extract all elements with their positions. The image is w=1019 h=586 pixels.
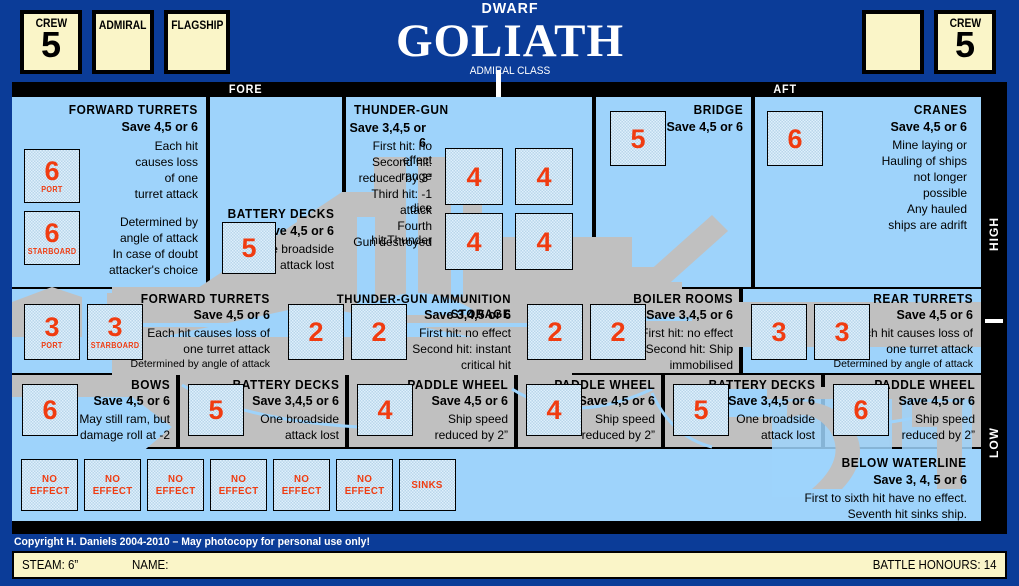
badge-flagship-caption: FLAGSHIP: [171, 19, 223, 32]
rear-turrets-line-1: one turret attack: [886, 342, 973, 356]
section-forward-turrets-high: FORWARD TURRETS Save 4,5 or 6 Each hit c…: [12, 97, 208, 287]
hitbox-sublabel: PORT: [41, 341, 62, 350]
hitbox-waterline-5[interactable]: NOEFFECT: [273, 459, 330, 511]
bows-line-0: May still ram, but: [79, 412, 170, 426]
hitbox-bridge[interactable]: 5: [610, 111, 666, 166]
hitbox-value: 4: [466, 164, 481, 190]
row-below-waterline: BELOW WATERLINE Save 3, 4, 5 or 6 First …: [12, 449, 1007, 521]
ship-title-block: DWARF GOLIATH ADMIRAL CLASS: [300, 0, 720, 77]
hitbox-battery-decks-low-1[interactable]: 5: [188, 384, 244, 436]
hitbox-paddle-wheel-2[interactable]: 4: [526, 384, 582, 436]
forward-turrets-mid-save: Save 4,5 or 6: [194, 308, 270, 323]
cranes-title: CRANES: [913, 103, 967, 118]
hitbox-forward-turret-port-mid[interactable]: 3 PORT: [24, 304, 80, 360]
section-bows: BOWS Save 4,5 or 6 May still ram, but da…: [12, 375, 178, 447]
forward-turrets-high-line-1: causes loss: [135, 155, 198, 169]
section-cranes: CRANES Save 4,5 or 6 Mine laying or Haul…: [755, 97, 981, 287]
badge-admiral-caption: ADMIRAL: [99, 19, 147, 32]
rear-turrets-save: Save 4,5 or 6: [897, 308, 973, 323]
forward-turrets-high-line-0: Each hit: [155, 139, 198, 153]
battery-decks-low-1-save: Save 3,4,5 or 6: [252, 394, 339, 409]
section-paddle-wheel-3: PADDLE WHEEL Save 4,5 or 6 Ship speed re…: [825, 375, 981, 447]
section-battery-decks-low-2: BATTERY DECKS Save 3,4,5 or 6 One broads…: [665, 375, 823, 447]
forward-turrets-high-line-2: of one: [165, 171, 198, 185]
hitbox-ammunition-storage-1[interactable]: 2: [288, 304, 344, 360]
paddle-wheel-2-line-1: reduced by 2”: [582, 428, 655, 442]
bridge-save: Save 4,5 or 6: [667, 120, 743, 135]
ship-name: GOLIATH: [300, 17, 720, 65]
bows-line-1: damage roll at -2: [80, 428, 170, 442]
ship-data-sheet: CREW 5 ADMIRAL FLAGSHIP DWARF GOLIATH AD…: [0, 0, 1019, 586]
fore-label: FORE: [229, 82, 263, 97]
below-waterline-title: BELOW WATERLINE: [842, 456, 967, 471]
battery-decks-low-1-line-1: attack lost: [285, 428, 339, 442]
paddle-wheel-3-save: Save 4,5 or 6: [899, 394, 975, 409]
boiler-rooms-save: Save 3,4,5 or 6: [646, 308, 733, 323]
hitbox-forward-turret-port-high[interactable]: 6 PORT: [24, 149, 80, 203]
forward-turrets-high-note-2: In case of doubt: [113, 247, 198, 261]
altitude-high-label: HIGH: [987, 217, 1001, 251]
ammunition-storage-line-1: Second hit: instant: [412, 342, 511, 356]
hitbox-thunder-gun-2[interactable]: 4: [515, 148, 573, 205]
thunder-gun-line-4: attack: [400, 203, 432, 217]
boiler-rooms-line-0: First hit: no effect: [641, 326, 733, 340]
hitbox-value: 4: [466, 229, 481, 255]
forward-turrets-high-line-3: turret attack: [135, 187, 198, 201]
paddle-wheel-3-title: PADDLE WHEEL: [874, 378, 975, 393]
hitbox-paddle-wheel-3[interactable]: 6: [833, 384, 889, 436]
battery-decks-high-title: BATTERY DECKS: [227, 207, 334, 222]
hitbox-value: 5: [693, 397, 708, 423]
section-rear-turrets: REAR TURRETS Save 4,5 or 6 Each hit caus…: [743, 289, 981, 373]
hitbox-rear-turret-1[interactable]: 3: [751, 304, 807, 360]
hitbox-boiler-room-1[interactable]: 2: [527, 304, 583, 360]
aft-label: AFT: [773, 82, 797, 97]
hitbox-waterline-2[interactable]: NOEFFECT: [84, 459, 141, 511]
row-high: FORWARD TURRETS Save 4,5 or 6 Each hit c…: [12, 97, 1007, 287]
hitbox-label: NOEFFECT: [282, 473, 322, 497]
altitude-divider-tick: [985, 319, 1003, 323]
bows-save: Save 4,5 or 6: [94, 394, 170, 409]
forward-turrets-mid-title: FORWARD TURRETS: [141, 292, 270, 307]
paddle-wheel-1-save: Save 4,5 or 6: [432, 394, 508, 409]
battery-decks-low-1-title: BATTERY DECKS: [232, 378, 339, 393]
forward-turrets-high-title: FORWARD TURRETS: [69, 103, 198, 118]
battery-decks-high-line-1: attack lost: [280, 258, 334, 272]
altitude-strip: HIGH LOW: [981, 97, 1007, 521]
badge-crew-left[interactable]: CREW 5: [20, 10, 82, 74]
boiler-rooms-line-2: immobilised: [670, 358, 733, 372]
section-battery-decks-low-1: BATTERY DECKS Save 3,4,5 or 6 One broads…: [180, 375, 347, 447]
footer-name-field[interactable]: NAME:: [132, 558, 168, 573]
hitbox-value: 4: [536, 164, 551, 190]
battery-decks-low-2-line-0: One broadside: [736, 412, 815, 426]
badge-crew-left-caption: CREW: [35, 17, 67, 30]
fore-aft-bar: FORE AFT: [12, 82, 1007, 97]
battery-decks-low-1-line-0: One broadside: [260, 412, 339, 426]
below-waterline-line-0: First to sixth hit have no effect.: [804, 491, 967, 505]
hitbox-ammunition-storage-2[interactable]: 2: [351, 304, 407, 360]
altitude-low-label: LOW: [987, 427, 1001, 458]
hitbox-value: 3: [771, 319, 786, 345]
hitbox-waterline-6[interactable]: NOEFFECT: [336, 459, 393, 511]
hitbox-value: 2: [371, 319, 386, 345]
hitbox-sublabel: STARBOARD: [28, 247, 77, 256]
forward-turrets-mid-line-1: one turret attack: [183, 342, 270, 356]
thunder-gun-line-2: reduced by 3”: [359, 171, 432, 185]
hitbox-value: 3: [834, 319, 849, 345]
ammunition-storage-line-0: First hit: no effect: [419, 326, 511, 340]
badge-crew-right[interactable]: CREW 5: [934, 10, 996, 74]
thunder-gun-line-6: Gun destroyed: [353, 235, 432, 249]
forward-turrets-mid-line-0: Each hit causes loss of: [147, 326, 270, 340]
paddle-wheel-2-line-0: Ship speed: [595, 412, 655, 426]
hitbox-boiler-room-2[interactable]: 2: [590, 304, 646, 360]
sheet-header: CREW 5 ADMIRAL FLAGSHIP DWARF GOLIATH AD…: [0, 0, 1019, 82]
nation-label: DWARF: [311, 0, 710, 17]
hitbox-rear-turret-2[interactable]: 3: [814, 304, 870, 360]
damage-board: FORE AFT FORWARD TURRETS Save 4,5 or 6 E…: [12, 82, 1007, 534]
hitbox-value: 3: [107, 314, 122, 340]
row-mid: FORWARD TURRETS Save 4,5 or 6 Each hit c…: [12, 289, 1007, 373]
cranes-save: Save 4,5 or 6: [891, 120, 967, 135]
badge-blank-right[interactable]: [862, 10, 924, 74]
ammunition-storage-line-2: critical hit: [461, 358, 511, 372]
hitbox-thunder-gun-4[interactable]: 4: [515, 213, 573, 270]
thunder-gun-title: THUNDER-GUN: [354, 103, 449, 118]
section-thunder-gun: THUNDER-GUN Save 3,4,5 or 6 First hit: n…: [346, 97, 594, 287]
hitbox-value: 2: [308, 319, 323, 345]
bridge-title: BRIDGE: [693, 103, 743, 118]
badge-admiral[interactable]: ADMIRAL: [92, 10, 154, 74]
hitbox-value: 6: [42, 397, 57, 423]
forward-turrets-high-save: Save 4,5 or 6: [122, 120, 198, 135]
hitbox-value: 6: [853, 397, 868, 423]
paddle-wheel-3-line-0: Ship speed: [915, 412, 975, 426]
hitbox-value: 3: [44, 314, 59, 340]
copyright-notice: Copyright H. Daniels 2004-2010 – May pho…: [14, 536, 370, 549]
paddle-wheel-1-line-0: Ship speed: [448, 412, 508, 426]
hitbox-label: NOEFFECT: [93, 473, 133, 497]
hitbox-value: 5: [208, 397, 223, 423]
hitbox-sublabel: PORT: [41, 185, 62, 194]
hitbox-paddle-wheel-1[interactable]: 4: [357, 384, 413, 436]
hitbox-value: 6: [787, 126, 802, 152]
cranes-line-0: Mine laying or: [892, 138, 967, 152]
badge-flagship[interactable]: FLAGSHIP: [164, 10, 230, 74]
hitbox-value: 6: [44, 220, 59, 246]
hitbox-thunder-gun-3[interactable]: 4: [445, 213, 503, 270]
boiler-rooms-title: BOILER ROOMS: [633, 292, 733, 307]
hitbox-value: 2: [610, 319, 625, 345]
hitbox-sublabel: STARBOARD: [91, 341, 140, 350]
hitbox-label: NOEFFECT: [345, 473, 385, 497]
bows-title: BOWS: [131, 378, 170, 393]
hitbox-label: SINKS: [412, 479, 443, 491]
row-low: BOWS Save 4,5 or 6 May still ram, but da…: [12, 375, 1007, 447]
footer-battle-honours: BATTLE HONOURS: 14: [873, 558, 997, 573]
battery-decks-low-2-line-1: attack lost: [761, 428, 815, 442]
cranes-line-3: possible: [923, 186, 967, 200]
cranes-line-5: ships are adrift: [888, 218, 967, 232]
section-below-waterline: BELOW WATERLINE Save 3, 4, 5 or 6 First …: [12, 449, 981, 521]
hitbox-label: NOEFFECT: [219, 473, 259, 497]
paddle-wheel-1-line-1: reduced by 2”: [435, 428, 508, 442]
section-paddle-wheel-2: PADDLE WHEEL Save 4,5 or 6 Ship speed re…: [518, 375, 663, 447]
hitbox-cranes[interactable]: 6: [767, 111, 823, 166]
battery-decks-low-2-save: Save 3,4,5 or 6: [728, 394, 815, 409]
hitbox-label: NOEFFECT: [30, 473, 70, 497]
ammunition-storage-save: Save 3,4,5 or 6: [424, 308, 511, 323]
paddle-wheel-2-save: Save 4,5 or 6: [579, 394, 655, 409]
forward-turrets-high-note-0: Determined by: [120, 215, 198, 229]
forward-turrets-mid-note: Determined by angle of attack: [131, 358, 271, 370]
hitbox-forward-turret-starboard-high[interactable]: 6 STARBOARD: [24, 211, 80, 265]
hitbox-value: 4: [536, 229, 551, 255]
below-waterline-line-1: Seventh hit sinks ship.: [848, 507, 967, 521]
footer-steam: STEAM: 6”: [22, 558, 78, 573]
hitbox-value: 4: [546, 397, 561, 423]
badge-crew-right-caption: CREW: [949, 17, 981, 30]
forward-turrets-high-note-3: attacker's choice: [109, 263, 198, 277]
hitbox-bows[interactable]: 6: [22, 384, 78, 436]
section-paddle-wheel-1: PADDLE WHEEL Save 4,5 or 6 Ship speed re…: [349, 375, 516, 447]
forward-turrets-high-note-1: angle of attack: [120, 231, 198, 245]
paddle-wheel-3-line-1: reduced by 2”: [902, 428, 975, 442]
cranes-line-1: Hauling of ships: [882, 154, 967, 168]
ship-class: ADMIRAL CLASS: [317, 65, 703, 77]
section-ammunition-storage: THUNDER-GUN AMMUNITION STORAGE Save 3,4,…: [280, 289, 517, 373]
hitbox-waterline-3[interactable]: NOEFFECT: [147, 459, 204, 511]
hitbox-label: NOEFFECT: [156, 473, 196, 497]
section-boiler-rooms: BOILER ROOMS Save 3,4,5 or 6 First hit: …: [519, 289, 741, 373]
hitbox-value: 6: [44, 158, 59, 184]
hitbox-value: 5: [630, 126, 645, 152]
section-forward-turrets-mid: FORWARD TURRETS Save 4,5 or 6 Each hit c…: [12, 289, 278, 373]
hitbox-battery-decks-high[interactable]: 5: [222, 222, 276, 274]
hitbox-value: 4: [377, 397, 392, 423]
hitbox-waterline-1[interactable]: NOEFFECT: [21, 459, 78, 511]
cranes-line-4: Any hauled: [907, 202, 967, 216]
hitbox-value: 5: [241, 235, 256, 261]
badge-crew-right-value: 5: [955, 29, 975, 61]
cranes-line-2: not longer: [914, 170, 967, 184]
hitbox-thunder-gun-1[interactable]: 4: [445, 148, 503, 205]
hitbox-battery-decks-low-2[interactable]: 5: [673, 384, 729, 436]
hitbox-waterline-sinks[interactable]: SINKS: [399, 459, 456, 511]
paddle-wheel-1-title: PADDLE WHEEL: [407, 378, 508, 393]
section-battery-decks-high: BATTERY DECKS Save 4,5 or 6 One broadsid…: [210, 97, 344, 287]
hitbox-waterline-4[interactable]: NOEFFECT: [210, 459, 267, 511]
below-waterline-save: Save 3, 4, 5 or 6: [873, 473, 967, 488]
centre-tick: [496, 70, 501, 97]
hitbox-forward-turret-starboard-mid[interactable]: 3 STARBOARD: [87, 304, 143, 360]
section-bridge: BRIDGE Save 4,5 or 6 5: [596, 97, 753, 287]
boiler-rooms-line-1: Second hit: Ship: [646, 342, 733, 356]
hitbox-value: 2: [547, 319, 562, 345]
badge-crew-left-value: 5: [41, 29, 61, 61]
footer-bar: STEAM: 6” NAME: BATTLE HONOURS: 14: [12, 551, 1007, 579]
rear-turrets-title: REAR TURRETS: [873, 292, 973, 307]
